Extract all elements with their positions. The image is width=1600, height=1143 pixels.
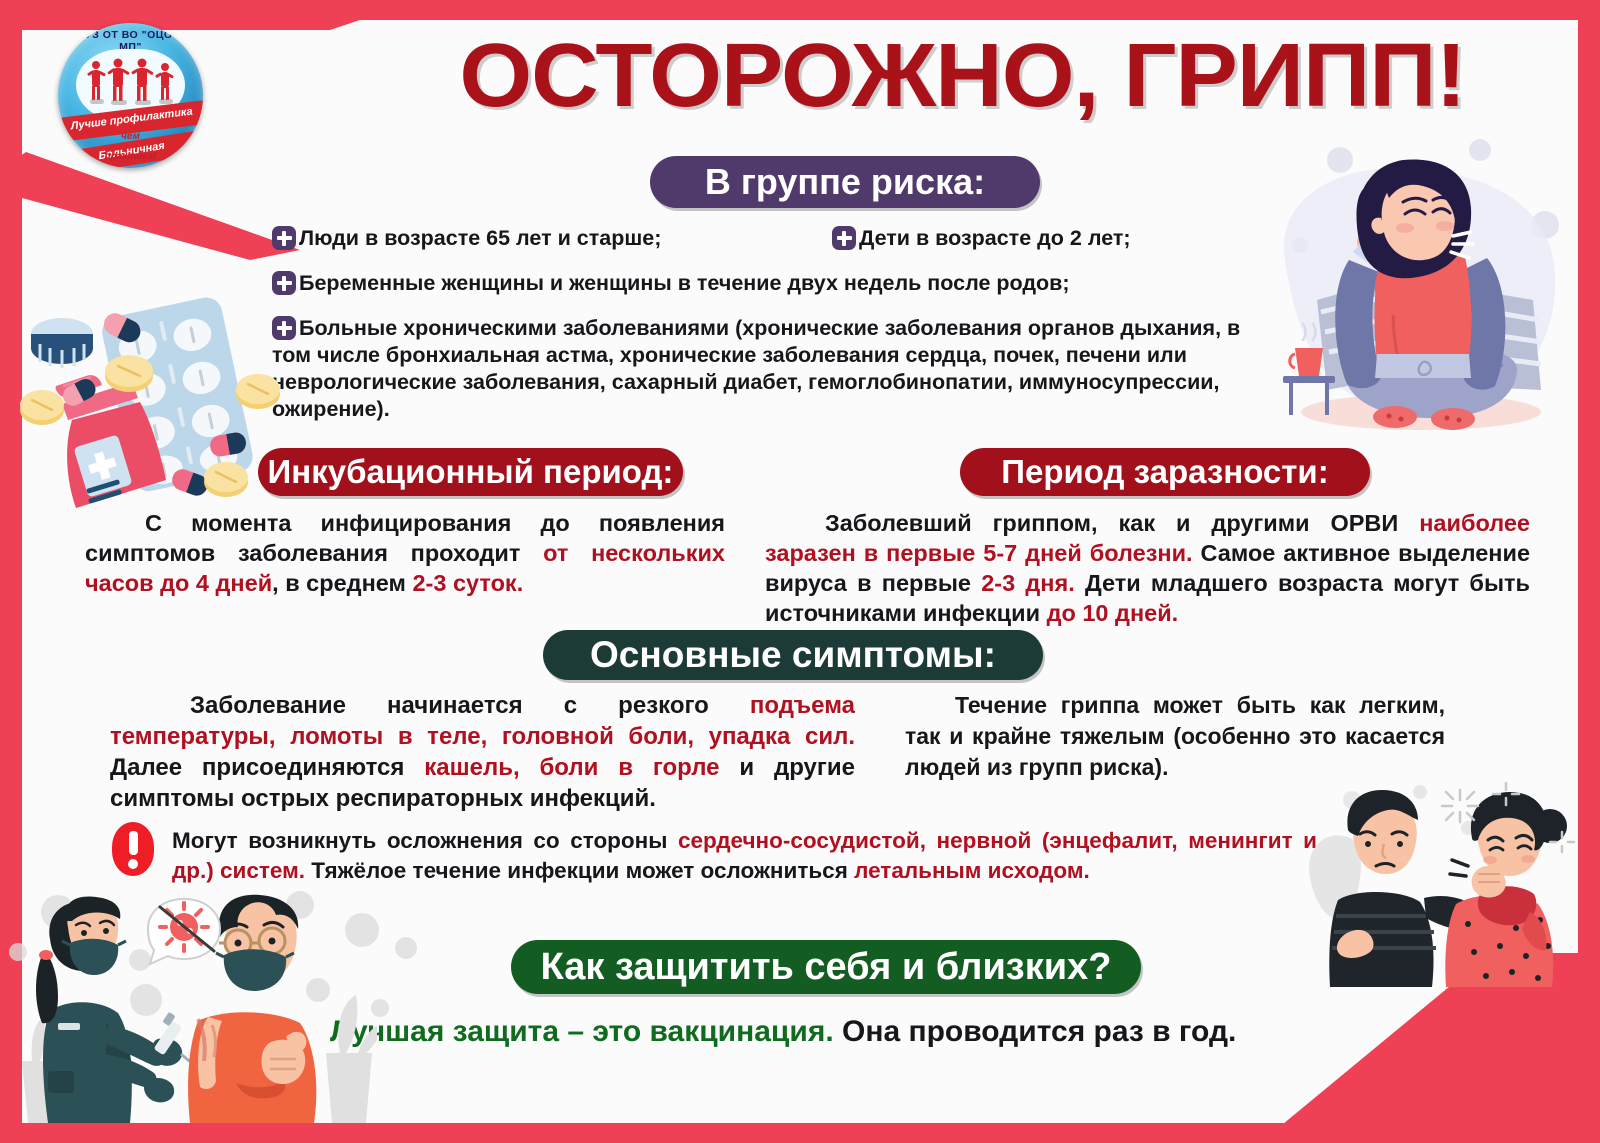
section-header-main-symptoms: Основные симптомы:: [543, 630, 1043, 680]
contagious-paragraph: Заболевший гриппом, как и другими ОРВИ н…: [765, 508, 1530, 628]
vaccination-green-text: Лучшая защита – это вакцинация.: [330, 1015, 834, 1048]
medical-cross-icon: [272, 226, 296, 250]
contagious-highlight-3: до 10 дней.: [1047, 600, 1179, 626]
complications-highlight-2: летальным исходом.: [854, 858, 1090, 883]
risk-list-item-children: Дети в возрасте до 2 лет;: [832, 225, 1252, 252]
risk-list-item-pregnant: Беременные женщины и женщины в течение д…: [272, 270, 1252, 297]
flu-awareness-poster: ГБУЗ ОТ ВО "ОЦОЗ и МП": [0, 0, 1600, 1143]
contagious-text-1: Заболевший гриппом, как и другими ОРВИ: [825, 510, 1419, 536]
symptoms-text-1: Заболевание начинается с резкого: [190, 692, 750, 719]
section-header-how-to-protect: Как защитить себя и близких?: [511, 940, 1141, 994]
complications-text-2: Тяжёлое течение инфекции может осложнить…: [305, 858, 854, 883]
symptoms-highlight-2: кашель, боли в горле: [424, 754, 719, 781]
section-header-contagious-period: Период заразности:: [960, 448, 1370, 496]
coughing-couple-illustration: [1300, 782, 1590, 987]
incubation-highlight-2: 2-3 суток.: [412, 570, 523, 596]
symptoms-text-2: Далее присоединяются: [110, 754, 424, 781]
sick-woman-coughing-illustration: [1255, 140, 1585, 450]
section-header-incubation: Инкубационный период:: [258, 448, 683, 496]
medicine-pills-bottle-illustration: [10, 292, 295, 517]
section-header-risk-group: В группе риска:: [650, 156, 1040, 208]
risk-list-item-chronic: Больные хроническими заболеваниями (хрон…: [272, 315, 1257, 423]
risk-item-label: Люди в возрасте 65 лет и старше;: [299, 226, 661, 250]
nurse-vaccinating-man-illustration: [22, 893, 377, 1123]
complications-text-1: Могут возникнуть осложнения со стороны: [172, 828, 678, 853]
vaccination-black-text: Она проводится раз в год.: [834, 1015, 1237, 1048]
logo-band-upper-text: Лучше профилактика: [58, 103, 203, 134]
logo-people-icon: [82, 57, 179, 109]
risk-item-label: Беременные женщины и женщины в течение д…: [299, 271, 1070, 295]
risk-list-item-elderly: Люди в возрасте 65 лет и старше;: [272, 225, 832, 252]
risk-item-label: Больные хроническими заболеваниями (хрон…: [272, 316, 1240, 421]
vaccination-statement: Лучшая защита – это вакцинация. Она пров…: [330, 1013, 1330, 1051]
risk-item-label: Дети в возрасте до 2 лет;: [859, 226, 1131, 250]
complications-paragraph: Могут возникнуть осложнения со стороны с…: [172, 826, 1317, 886]
logo-bottom-text: практика!: [58, 151, 203, 162]
contagious-highlight-2: 2-3 дня.: [981, 570, 1075, 596]
medical-cross-icon: [832, 226, 856, 250]
symptoms-right-paragraph: Течение гриппа может быть как легким, та…: [905, 690, 1445, 783]
organization-logo: ГБУЗ ОТ ВО "ОЦОЗ и МП": [58, 23, 203, 168]
exclamation-warning-icon: [112, 822, 154, 876]
symptoms-left-paragraph: Заболевание начинается с резкого подъема…: [110, 690, 855, 814]
incubation-paragraph: С момента инфицирования до появления сим…: [85, 508, 725, 598]
incubation-text-2: , в среднем: [272, 570, 412, 596]
page-title: ОСТОРОЖНО, ГРИПП!: [331, 22, 1595, 132]
